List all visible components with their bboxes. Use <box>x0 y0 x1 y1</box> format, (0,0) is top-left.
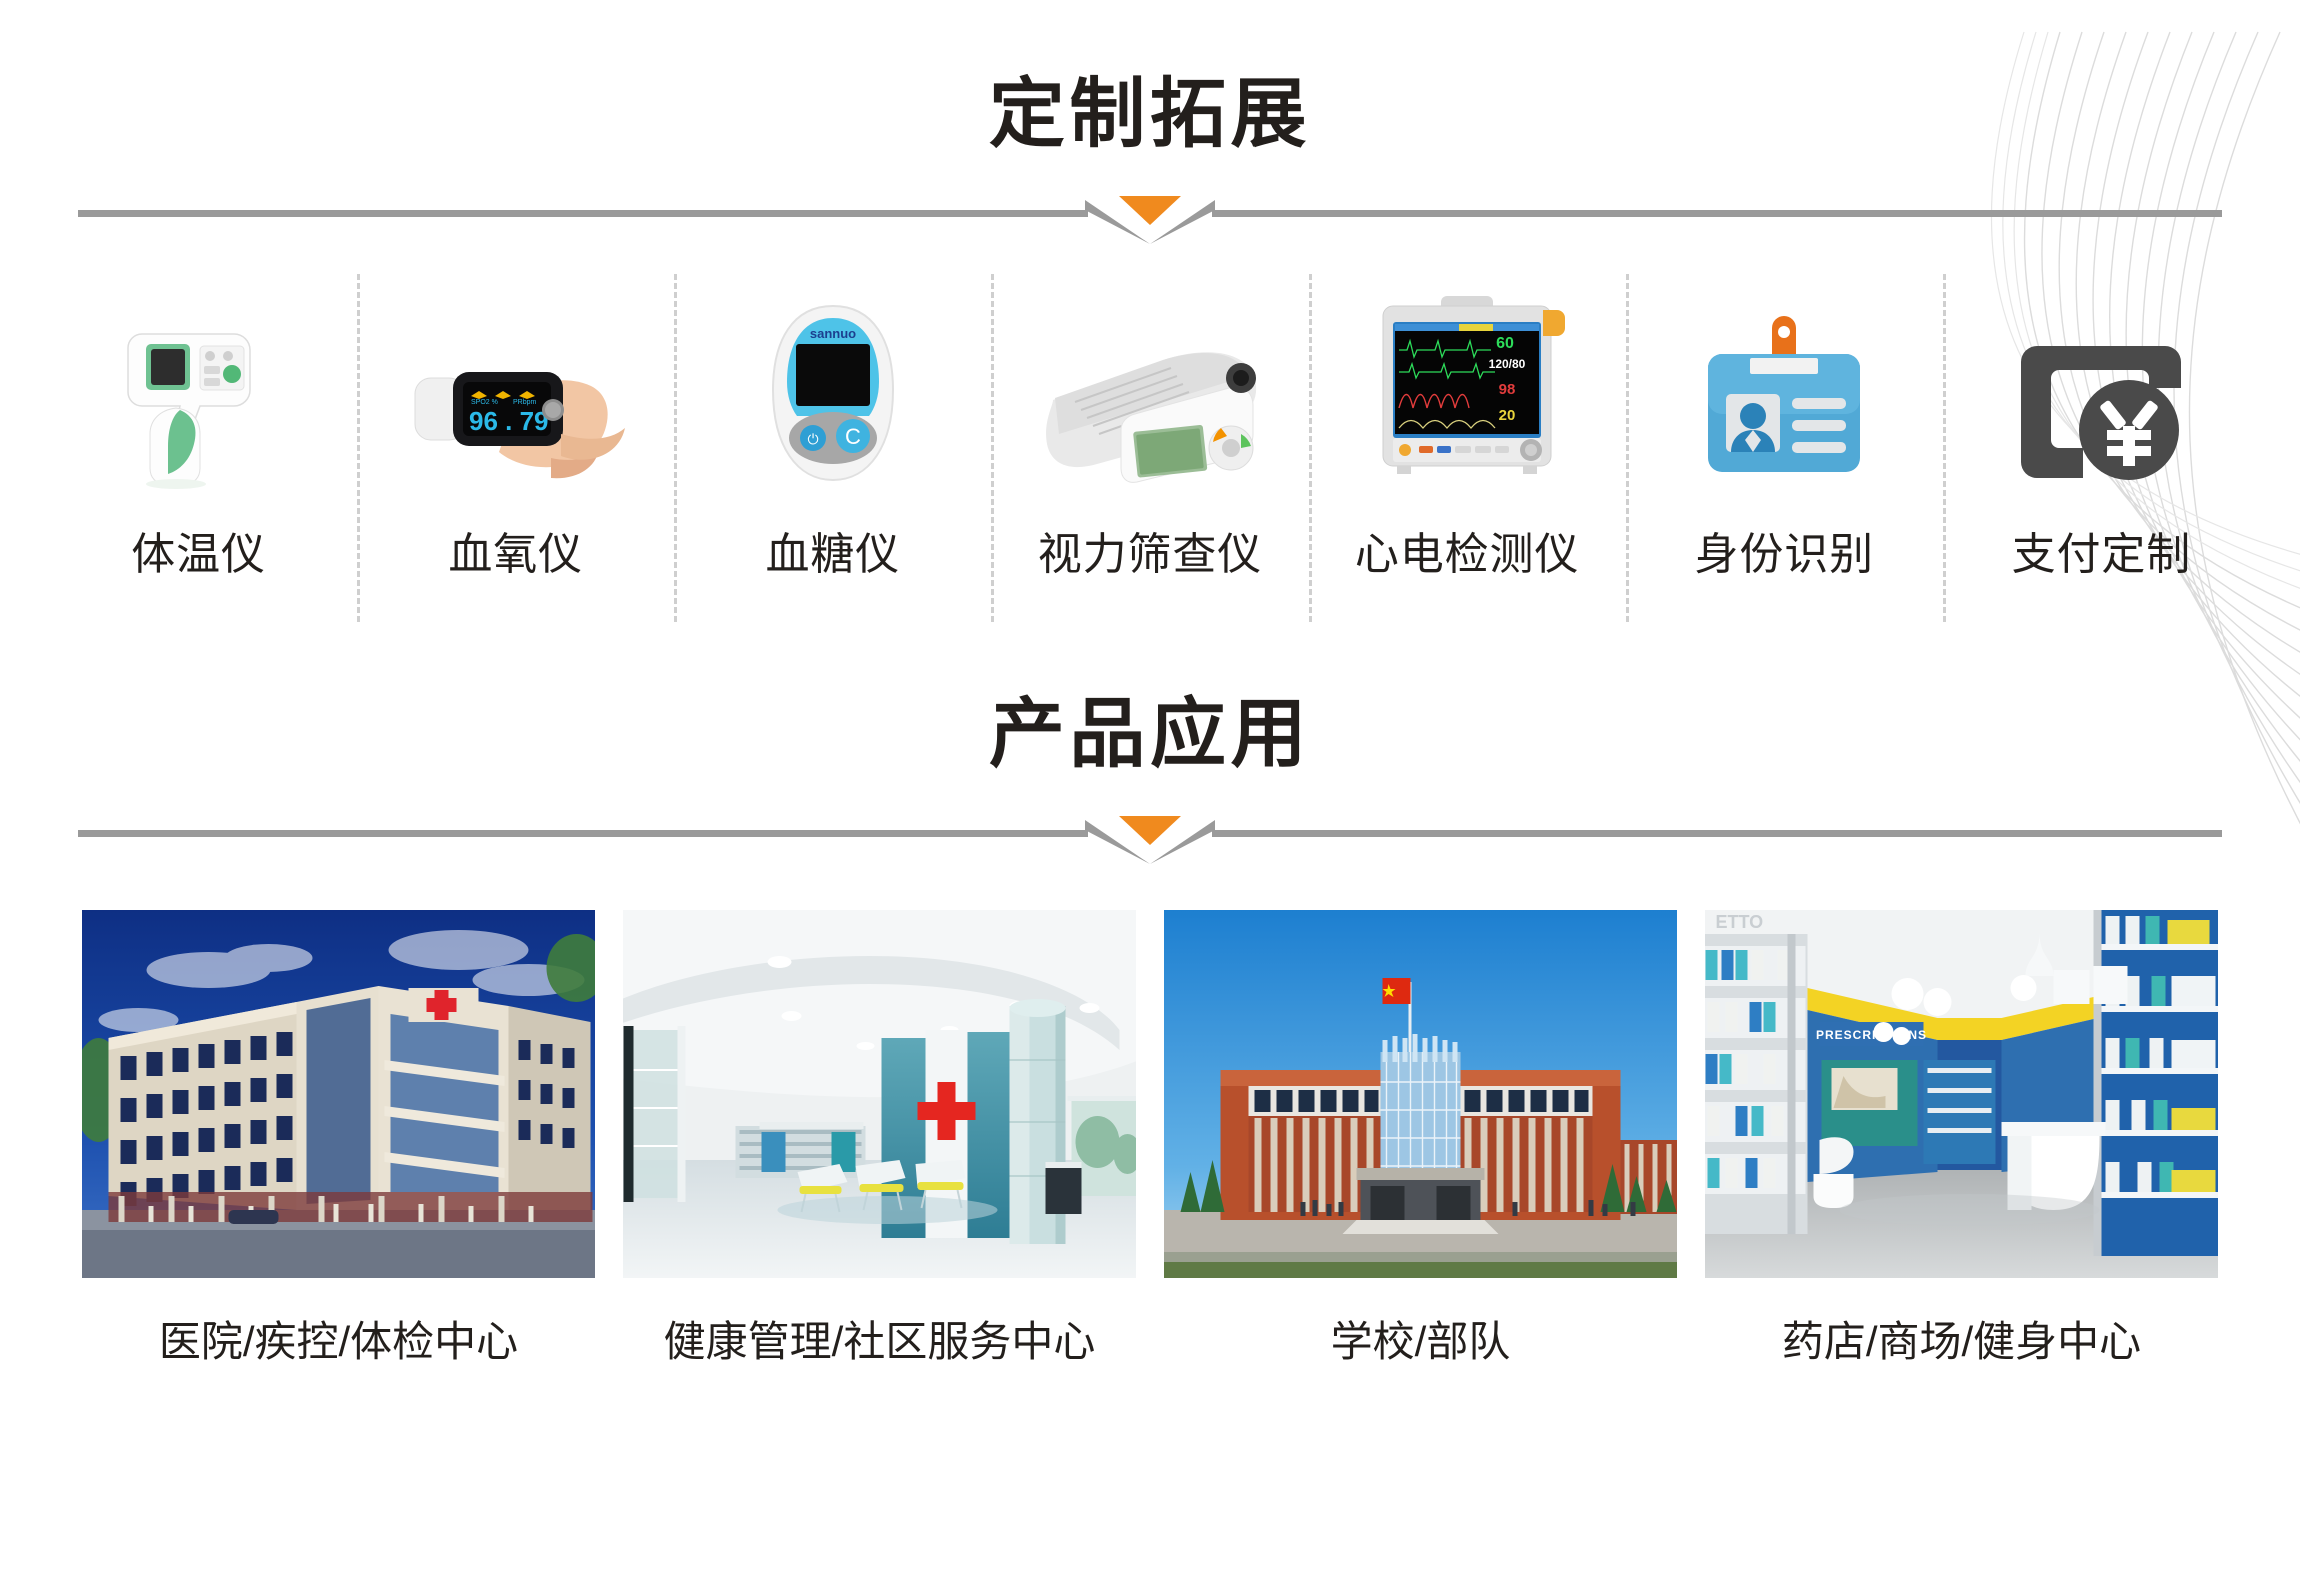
device-item-vision-screener[interactable]: 视力筛查仪 <box>991 282 1308 582</box>
divider-line-left <box>78 830 1088 837</box>
scene-caption: 健康管理/社区服务中心 <box>664 1308 1096 1369</box>
device-label: 心电检测仪 <box>1355 518 1579 582</box>
id-badge-icon <box>1694 288 1874 488</box>
device-item-payment[interactable]: 支付定制 <box>1943 282 2260 582</box>
device-label: 体温仪 <box>131 518 266 582</box>
svg-text:SPO2 %: SPO2 % <box>471 399 498 406</box>
hospital-building-photo <box>82 910 595 1278</box>
application-scene-list: 医院/疾控/体检中心 <box>82 910 2218 1369</box>
svg-text:PRbpm: PRbpm <box>513 399 537 406</box>
svg-text:96 . 79: 96 . 79 <box>469 406 549 436</box>
infrared-thermometer-icon <box>124 288 274 488</box>
divider-line-left <box>78 210 1088 217</box>
section-divider-1 <box>0 192 2300 244</box>
device-label: 血糖仪 <box>766 518 901 582</box>
pulse-oximeter-icon: SPO2 % PRbpm 96 . 79 <box>401 288 631 488</box>
patient-monitor-icon: 60 120/80 98 20 <box>1367 288 1567 488</box>
device-label: 血氧仪 <box>448 518 583 582</box>
chevron-down-icon <box>1085 812 1215 864</box>
scene-caption: 药店/商场/健身中心 <box>1782 1308 2141 1369</box>
glucose-meter-icon: sannuo ⏻ C <box>758 288 908 488</box>
device-item-patient-monitor[interactable]: 60 120/80 98 20 心电检测仪 <box>1309 282 1626 582</box>
device-item-id-badge[interactable]: 身份识别 <box>1626 282 1943 582</box>
section-title-product-application: 产品应用 <box>0 672 2300 782</box>
svg-text:C: C <box>845 424 861 449</box>
device-list: 体温仪 SPO2 % PRbpm 96 . 79 <box>40 282 2260 582</box>
scene-item-clinic[interactable]: 健康管理/社区服务中心 <box>623 910 1136 1369</box>
svg-text:20: 20 <box>1499 407 1516 424</box>
section-divider-2 <box>0 812 2300 864</box>
payment-wallet-yuan-icon <box>2011 288 2191 488</box>
scene-caption: 医院/疾控/体检中心 <box>159 1308 518 1369</box>
section-title-custom-expansion: 定制拓展 <box>0 52 2300 162</box>
device-label: 支付定制 <box>2012 518 2192 582</box>
pharmacy-interior-photo: PRESCRIPTIONS <box>1705 910 2218 1278</box>
vision-screener-icon <box>1035 288 1265 488</box>
school-building-photo <box>1164 910 1677 1278</box>
device-label: 视力筛查仪 <box>1038 518 1262 582</box>
chevron-down-icon <box>1085 192 1215 244</box>
scene-item-school[interactable]: 学校/部队 <box>1164 910 1677 1369</box>
device-item-thermometer[interactable]: 体温仪 <box>40 282 357 582</box>
device-item-glucose-meter[interactable]: sannuo ⏻ C 血糖仪 <box>674 282 991 582</box>
svg-text:120/80: 120/80 <box>1489 357 1526 371</box>
divider-line-right <box>1212 830 2222 837</box>
scene-item-hospital[interactable]: 医院/疾控/体检中心 <box>82 910 595 1369</box>
scene-item-pharmacy[interactable]: PRESCRIPTIONS <box>1705 910 2218 1369</box>
scene-caption: 学校/部队 <box>1331 1308 1511 1369</box>
device-label: 身份识别 <box>1695 518 1875 582</box>
divider-line-right <box>1212 210 2222 217</box>
clinic-lobby-photo <box>623 910 1136 1278</box>
svg-text:⏻: ⏻ <box>807 431 818 447</box>
svg-text:60: 60 <box>1496 335 1514 352</box>
svg-text:98: 98 <box>1499 381 1516 398</box>
svg-text:sannuo: sannuo <box>810 326 856 341</box>
device-item-oximeter[interactable]: SPO2 % PRbpm 96 . 79 血氧仪 <box>357 282 674 582</box>
svg-text:ETTO: ETTO <box>1716 912 1764 932</box>
